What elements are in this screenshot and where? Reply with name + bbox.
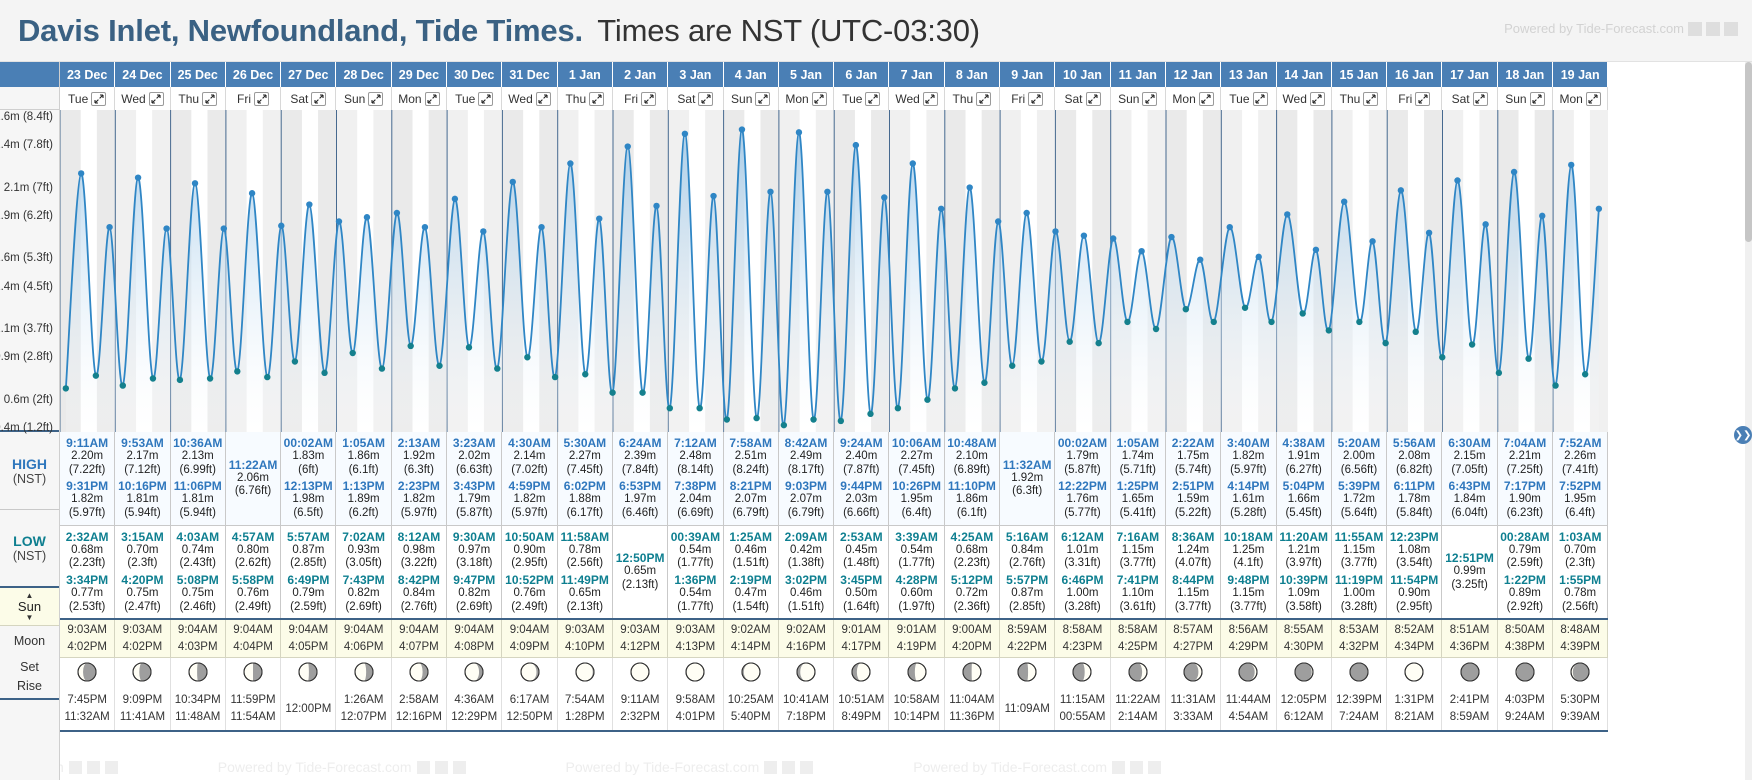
tide-height-ft: (6.89ft) [947, 464, 996, 478]
date-header-cell: 15 Jan [1332, 62, 1387, 87]
low-tide-cell: 4:25AM0.68m(2.23ft)5:12PM0.72m(2.36ft) [945, 526, 1000, 619]
expand-arrows-icon[interactable] [976, 92, 991, 106]
moonset-time: 10:58AM [894, 692, 940, 709]
tide-time: 6:11PM [1394, 479, 1435, 493]
tide-event: 10:26PM1.95m(6.4ft) [892, 478, 941, 521]
day-label: Sat [677, 92, 695, 106]
expand-arrows-icon[interactable] [368, 92, 383, 106]
low-tide-marker [1268, 319, 1274, 325]
tide-event: 11:20AM1.21m(3.97ft) [1279, 529, 1328, 572]
tide-height-m: 0.84m [398, 587, 440, 601]
tide-height-ft: (3.18ft) [453, 557, 496, 571]
expand-arrows-icon[interactable] [923, 92, 938, 106]
expand-arrows-icon[interactable] [91, 92, 106, 106]
moon-phase-icon [1293, 661, 1315, 686]
low-tide-marker [494, 365, 500, 371]
tide-height-m: 2.48m [674, 450, 717, 464]
tide-event: 11:49PM0.65m(2.13ft) [561, 572, 609, 615]
expand-arrows-icon[interactable] [1086, 92, 1101, 106]
watermark-badge-2 [435, 761, 448, 774]
tide-height-m: 1.66m [1283, 493, 1325, 507]
sun-cell: 8:52AM4:34PM [1387, 620, 1442, 657]
expand-arrows-icon[interactable] [536, 92, 551, 106]
date-header-cell: 6 Jan [834, 62, 889, 87]
moon-setrise-cell: 1:26AM12:07PM [336, 688, 391, 730]
y-axis-tick-label: 2.6m (8.4ft) [0, 111, 53, 123]
tide-height-m: 0.79m [1500, 544, 1549, 558]
expand-arrows-icon[interactable] [1142, 92, 1157, 106]
expand-arrows-icon[interactable] [1415, 92, 1430, 106]
moonrise-time: 4:54AM [1229, 709, 1269, 726]
moon-cell [779, 658, 834, 688]
low-tide-cell: 3:15AM0.70m(2.3ft)4:20PM0.75m(2.47ft) [115, 526, 170, 619]
moon-setrise-cell: 1:31PM8:21AM [1387, 688, 1442, 730]
moon-cell [945, 658, 1000, 688]
date-header-cell: 17 Jan [1442, 62, 1497, 87]
tide-time: 8:44PM [1172, 573, 1214, 587]
sunrise-time: 8:52AM [1394, 622, 1434, 639]
watermark-badge-3 [1724, 22, 1738, 36]
tide-height-ft: (2.85ft) [1006, 601, 1048, 615]
tide-time: 9:03PM [785, 479, 827, 493]
expand-arrows-icon[interactable] [698, 92, 713, 106]
sunrise-time: 9:04AM [178, 622, 218, 639]
moonrise-time: 7:18PM [786, 709, 826, 726]
tide-event: 1:05AM1.74m(5.71ft) [1116, 435, 1159, 478]
expand-arrows-icon[interactable] [311, 92, 326, 106]
tide-grid[interactable]: 23 Dec24 Dec25 Dec26 Dec27 Dec28 Dec29 D… [60, 62, 1608, 732]
tide-event: 8:21PM2.07m(6.79ft) [730, 478, 772, 521]
expand-arrows-icon[interactable] [1473, 92, 1488, 106]
tide-event: 4:28PM0.60m(1.97ft) [896, 572, 938, 615]
expand-arrows-icon[interactable] [1530, 92, 1545, 106]
tide-height-ft: (5.77ft) [1058, 507, 1107, 521]
tide-height-m: 1.82m [1227, 450, 1270, 464]
sunrise-time: 9:01AM [897, 622, 937, 639]
moonset-time: 10:51AM [838, 692, 884, 709]
tide-time: 7:52PM [1559, 479, 1601, 493]
high-tide-row: 9:11AM2.20m(7.22ft)9:31PM1.82m(5.97ft)9:… [60, 432, 1608, 526]
moonset-time: 4:36AM [454, 692, 494, 709]
tide-event: 00:02AM1.83m(6ft) [284, 435, 333, 478]
tide-height-m: 0.46m [785, 587, 827, 601]
sunrise-time: 9:04AM [454, 622, 494, 639]
date-header-cell: 9 Jan [1000, 62, 1055, 87]
tide-height-m: 1.90m [1504, 493, 1546, 507]
expand-arrows-icon[interactable] [1199, 92, 1214, 106]
moon-phase-icon [242, 661, 264, 686]
moon-phase-icon [76, 661, 98, 686]
tide-time: 6:49PM [287, 573, 329, 587]
tide-time: 7:43PM [343, 573, 385, 587]
page-header: Davis Inlet, Newfoundland, Tide Times. T… [0, 0, 1752, 62]
tide-time: 00:28AM [1500, 530, 1549, 544]
moon-cell [171, 658, 226, 688]
moonrise-time: 3:33AM [1173, 709, 1213, 726]
tide-time: 3:40AM [1227, 436, 1270, 450]
date-header-cell: 23 Dec [60, 62, 115, 87]
tide-height-ft: (2.13ft) [561, 601, 609, 615]
high-tide-cell: 10:48AM2.10m(6.89ft)11:10PM1.86m(6.1ft) [945, 432, 1000, 525]
tide-time: 8:42PM [398, 573, 440, 587]
day-header-cell: Mon [392, 87, 447, 110]
moon-phase-icon [1348, 661, 1370, 686]
high-tide-marker [653, 203, 659, 209]
tide-height-ft: (5.71ft) [1116, 464, 1159, 478]
tide-height-m: 0.54m [895, 544, 938, 558]
tide-event: 7:43PM0.82m(2.69ft) [343, 572, 385, 615]
tide-height-ft: (2.69ft) [453, 601, 495, 615]
day-label: Mon [1172, 92, 1195, 106]
tide-height-ft: (1.54ft) [730, 601, 772, 615]
tide-grid-viewport[interactable]: 2.6m (8.4ft)2.4m (7.8ft)2.1m (7ft)1.9m (… [0, 62, 1752, 780]
moonset-time: 7:45PM [67, 692, 107, 709]
high-tide-marker [135, 174, 141, 180]
watermark-badge-1 [1112, 761, 1125, 774]
tide-height-ft: (6.46ft) [619, 507, 661, 521]
tide-event: 1:13PM1.89m(6.2ft) [343, 478, 385, 521]
high-tide-marker [853, 142, 859, 148]
moon-cell [1387, 658, 1442, 688]
watermark-badge-2 [1130, 761, 1143, 774]
watermark-badge-2 [782, 761, 795, 774]
expand-arrows-icon[interactable] [1253, 92, 1268, 106]
high-tide-marker [306, 201, 312, 207]
tide-event: 9:11AM2.20m(7.22ft) [66, 435, 108, 478]
day-header-cell: Wed [1277, 87, 1332, 110]
tide-height-ft: (2.53ft) [66, 601, 108, 615]
moonset-time: 11:15AM [1060, 692, 1105, 709]
day-label: Thu [953, 92, 974, 106]
sunset-time: 4:30PM [1284, 639, 1324, 656]
tide-time: 9:30AM [453, 530, 496, 544]
date-header-row: 23 Dec24 Dec25 Dec26 Dec27 Dec28 Dec29 D… [60, 62, 1608, 87]
tide-height-ft: (6.27ft) [1282, 464, 1325, 478]
tide-event: 11:06PM1.81m(5.94ft) [174, 478, 222, 521]
tide-event: 00:39AM0.54m(1.77ft) [671, 529, 720, 572]
watermark-badge-3 [453, 761, 466, 774]
expand-arrows-icon[interactable] [1586, 92, 1601, 106]
expand-arrows-icon[interactable] [149, 92, 164, 106]
tide-time: 5:30AM [563, 436, 606, 450]
tide-height-m: 1.15m [1227, 587, 1269, 601]
expand-arrows-icon[interactable] [865, 92, 880, 106]
day-label: Sat [290, 92, 308, 106]
tide-height-ft: (6.66ft) [840, 507, 882, 521]
scrollbar-thumb[interactable] [1745, 62, 1752, 242]
date-header-cell: 5 Jan [779, 62, 834, 87]
high-tide-marker [1052, 228, 1058, 234]
tide-height-ft: (8.17ft) [785, 464, 828, 478]
day-label: Wed [508, 92, 532, 106]
tide-height-ft: (2.36ft) [951, 601, 993, 615]
tide-event: 1:36PM0.54m(1.77ft) [674, 572, 716, 615]
tide-height-ft: (3.77ft) [1335, 557, 1384, 571]
low-tide-marker [436, 363, 442, 369]
tide-height-m: 0.68m [66, 544, 109, 558]
low-tide-marker [350, 350, 356, 356]
day-label: Mon [785, 92, 808, 106]
moon-row [60, 658, 1608, 688]
tide-time: 1:22PM [1504, 573, 1546, 587]
tide-time: 2:22AM [1172, 436, 1215, 450]
tide-height-ft: (6ft) [284, 464, 333, 478]
tide-height-m: 2.27m [892, 450, 941, 464]
moon-setrise-cell: 10:41AM7:18PM [779, 688, 834, 730]
tide-height-ft: (7.02ft) [508, 464, 551, 478]
footer-watermark: Powered by Tide-Forecast.com [566, 759, 814, 775]
tide-height-m: 2.14m [508, 450, 551, 464]
tide-height-m: 0.60m [896, 587, 938, 601]
tide-event: 8:42PM0.84m(2.76ft) [398, 572, 440, 615]
tide-time: 11:06PM [174, 479, 222, 493]
low-tide-cell: 11:58AM0.78m(2.56ft)11:49PM0.65m(2.13ft) [558, 526, 613, 619]
tide-height-ft: (6.63ft) [453, 464, 496, 478]
moonrise-time: 12:50PM [507, 709, 553, 726]
tide-time: 3:15AM [121, 530, 164, 544]
date-header-cell: 10 Jan [1055, 62, 1110, 87]
day-label: Sat [1452, 92, 1470, 106]
vertical-scrollbar[interactable] [1745, 62, 1752, 780]
tide-height-ft: (6.69ft) [674, 507, 716, 521]
moon-cell [834, 658, 889, 688]
tide-height-ft: (2.43ft) [176, 557, 219, 571]
expand-arrows-icon[interactable] [1363, 92, 1378, 106]
low-tide-marker [1326, 327, 1332, 333]
low-tide-marker [952, 385, 958, 391]
day-label: Mon [398, 92, 421, 106]
moon-setrise-cell: 9:58AM4:01PM [668, 688, 723, 730]
y-axis-tick-label: 0.6m (2ft) [4, 394, 53, 406]
date-header-cell: 26 Dec [226, 62, 281, 87]
tide-height-m: 2.20m [66, 450, 108, 464]
tide-height-m: 0.70m [1559, 544, 1602, 558]
moon-setrise-cell: 11:15AM00:55AM [1055, 688, 1110, 730]
moonrise-time: 12:29PM [451, 709, 497, 726]
expand-arrows-icon[interactable] [1310, 92, 1325, 106]
expand-arrows-icon[interactable] [254, 92, 269, 106]
tide-time: 3:34PM [66, 573, 108, 587]
day-label: Sun [731, 92, 752, 106]
tide-height-m: 0.97m [453, 544, 496, 558]
tide-height-ft: (3.28ft) [1335, 601, 1383, 615]
tide-time: 2:13AM [398, 436, 441, 450]
tide-height-ft: (5.84ft) [1394, 507, 1435, 521]
high-tide-cell: 2:13AM1.92m(6.3ft)2:23PM1.82m(5.97ft) [392, 432, 447, 525]
moon-setrise-cell: 2:58AM12:16PM [392, 688, 447, 730]
tide-height-m: 0.93m [342, 544, 385, 558]
tide-event: 7:52AM2.26m(7.41ft) [1559, 435, 1602, 478]
moonrise-time: 7:24AM [1339, 709, 1379, 726]
tide-event: 12:50PM0.65m(2.13ft) [616, 550, 665, 593]
day-header-cell: Fri [226, 87, 281, 110]
tide-height-m: 1.61m [1227, 493, 1269, 507]
moon-cell [724, 658, 779, 688]
expand-arrows-icon[interactable] [202, 92, 217, 106]
sunrise-time: 9:03AM [620, 622, 660, 639]
tide-event: 12:22PM1.76m(5.77ft) [1058, 478, 1107, 521]
expand-arrows-icon[interactable] [1028, 92, 1043, 106]
low-tide-cell: 3:39AM0.54m(1.77ft)4:28PM0.60m(1.97ft) [889, 526, 944, 619]
tide-height-ft: (6.23ft) [1504, 507, 1546, 521]
tide-time: 11:49PM [561, 573, 609, 587]
tide-height-m: 2.39m [619, 450, 662, 464]
day-header-cell: Mon [779, 87, 834, 110]
low-tide-cell: 5:16AM0.84m(2.76ft)5:57PM0.87m(2.85ft) [1000, 526, 1055, 619]
high-tide-marker [1081, 232, 1087, 238]
sunset-time: 4:08PM [454, 639, 494, 656]
sun-cell: 9:04AM4:04PM [226, 620, 281, 657]
tide-height-m: 1.89m [343, 493, 385, 507]
high-tide-marker [221, 225, 227, 231]
tide-height-m: 0.72m [951, 587, 993, 601]
moon-cell [281, 658, 336, 688]
sunrise-time: 8:51AM [1450, 622, 1490, 639]
tide-height-m: 1.74m [1116, 450, 1159, 464]
expand-arrows-icon[interactable] [478, 92, 493, 106]
moon-setrise-cell: 11:22AM2:14AM [1111, 688, 1166, 730]
sun-up-triangle-icon: ▲ [26, 592, 34, 599]
sunrise-time: 8:50AM [1505, 622, 1545, 639]
tide-height-m: 2.27m [563, 450, 606, 464]
moon-phase-icon [1237, 661, 1259, 686]
tide-height-ft: (5.97ft) [398, 507, 440, 521]
day-label: Sun [1118, 92, 1139, 106]
tide-time: 10:18AM [1224, 530, 1273, 544]
tide-height-m: 1.15m [1116, 544, 1159, 558]
tide-height-ft: (7.05ft) [1448, 464, 1491, 478]
high-tide-cell: 1:05AM1.74m(5.71ft)1:25PM1.65m(5.41ft) [1111, 432, 1166, 525]
day-header-cell: Sat [1442, 87, 1497, 110]
moon-setrise-cell: 6:17AM12:50PM [502, 688, 557, 730]
day-header-cell: Mon [1166, 87, 1221, 110]
moon-phase-icon [1569, 661, 1591, 686]
tide-event: 1:25AM0.46m(1.51ft) [729, 529, 772, 572]
low-tide-marker [1242, 305, 1248, 311]
tide-height-m: 0.47m [730, 587, 772, 601]
date-header-cell: 12 Jan [1166, 62, 1221, 87]
low-tide-marker [1066, 339, 1072, 345]
low-tide-cell: 2:53AM0.45m(1.48ft)3:45PM0.50m(1.64ft) [834, 526, 889, 619]
tide-time: 9:24AM [840, 436, 883, 450]
tide-height-ft: (4.07ft) [1172, 557, 1215, 571]
tide-time: 9:44PM [840, 479, 882, 493]
scroll-right-handle[interactable]: ❯❯ [1734, 426, 1752, 444]
low-tide-marker [379, 365, 385, 371]
high-tide-cell: 7:04AM2.21m(7.25ft)7:17PM1.90m(6.23ft) [1498, 432, 1553, 525]
day-label: Sun [344, 92, 365, 106]
tide-height-m: 0.74m [176, 544, 219, 558]
low-sublabel: (NST) [13, 549, 46, 563]
tide-height-m: 1.97m [619, 493, 661, 507]
high-tide-marker [1227, 224, 1233, 230]
tide-height-m: 1.86m [342, 450, 385, 464]
tide-height-ft: (2.69ft) [343, 601, 385, 615]
day-label: Tue [68, 92, 88, 106]
moon-phase-icon [1016, 661, 1038, 686]
tide-event: 9:30AM0.97m(3.18ft) [453, 529, 496, 572]
high-tide-marker [538, 224, 544, 230]
moon-cell [447, 658, 502, 688]
moonrise-time: 9:24AM [1505, 709, 1545, 726]
tide-event: 10:06AM2.27m(7.45ft) [892, 435, 941, 478]
tide-event: 00:28AM0.79m(2.59ft) [1500, 529, 1549, 572]
tide-time: 5:58PM [232, 573, 274, 587]
tide-event: 11:32AM1.92m(6.3ft) [1003, 457, 1052, 500]
tide-height-m: 0.65m [616, 565, 665, 579]
tide-event: 4:25AM0.68m(2.23ft) [951, 529, 994, 572]
tide-event: 11:19PM1.00m(3.28ft) [1335, 572, 1383, 615]
day-header-cell: Tue [834, 87, 889, 110]
high-tide-marker [249, 190, 255, 196]
tide-height-m: 0.90m [1390, 587, 1438, 601]
low-tide-cell: 12:50PM0.65m(2.13ft) [613, 526, 668, 619]
tide-height-m: 1.10m [1117, 587, 1159, 601]
low-tide-marker [63, 385, 69, 391]
tide-height-m: 0.78m [560, 544, 609, 558]
low-tide-marker [1413, 329, 1419, 335]
y-axis-tick-label: 0.9m (2.8ft) [0, 351, 53, 363]
expand-arrows-icon[interactable] [641, 92, 656, 106]
high-tide-marker [163, 225, 169, 231]
expand-arrows-icon[interactable] [425, 92, 440, 106]
day-header-cell: Sat [281, 87, 336, 110]
moonset-time: 10:41AM [783, 692, 829, 709]
expand-arrows-icon[interactable] [812, 92, 827, 106]
tide-height-m: 2.06m [229, 472, 278, 486]
moonrise-time: 11:41AM [120, 709, 165, 726]
day-header-cell: Fri [613, 87, 668, 110]
high-tide-marker [278, 223, 284, 229]
tide-time: 12:51PM [1445, 551, 1494, 565]
tide-height-m: 0.45m [840, 544, 883, 558]
sunset-time: 4:25PM [1118, 639, 1158, 656]
day-label: Tue [842, 92, 862, 106]
low-tide-cell: 2:09AM0.42m(1.38ft)3:02PM0.46m(1.51ft) [779, 526, 834, 619]
tide-height-m: 0.76m [505, 587, 554, 601]
tide-height-m: 2.10m [947, 450, 996, 464]
tide-time: 11:32AM [1003, 458, 1052, 472]
date-header-cell: 31 Dec [502, 62, 557, 87]
tide-height-ft: (5.74ft) [1172, 464, 1215, 478]
tide-time: 1:25PM [1117, 479, 1159, 493]
tide-time: 5:56AM [1393, 436, 1436, 450]
sunrise-time: 8:58AM [1118, 622, 1158, 639]
tide-event: 9:48PM1.15m(3.77ft) [1227, 572, 1269, 615]
tide-height-ft: (6.1ft) [342, 464, 385, 478]
moon-phase-icon [684, 661, 706, 686]
date-header-cell: 1 Jan [558, 62, 613, 87]
tide-event: 2:09AM0.42m(1.38ft) [785, 529, 828, 572]
expand-arrows-icon[interactable] [755, 92, 770, 106]
tide-height-m: 1.15m [1172, 587, 1214, 601]
expand-arrows-icon[interactable] [589, 92, 604, 106]
sunrise-time: 9:03AM [67, 622, 107, 639]
sun-cell: 9:04AM4:06PM [336, 620, 391, 657]
high-tide-cell: 5:30AM2.27m(7.45ft)6:02PM1.88m(6.17ft) [558, 432, 613, 525]
moonset-time: 1:31PM [1394, 692, 1434, 709]
high-tide-marker [336, 218, 342, 224]
high-tide-marker [192, 180, 198, 186]
tide-forecast-page: Davis Inlet, Newfoundland, Tide Times. T… [0, 0, 1752, 780]
moon-phase-icon [1071, 661, 1093, 686]
high-tide-marker [1197, 256, 1203, 262]
sunrise-time: 9:01AM [841, 622, 881, 639]
high-tide-marker [625, 143, 631, 149]
moonset-time: 6:17AM [510, 692, 550, 709]
low-tide-marker [524, 354, 530, 360]
tide-time: 10:26PM [892, 479, 941, 493]
